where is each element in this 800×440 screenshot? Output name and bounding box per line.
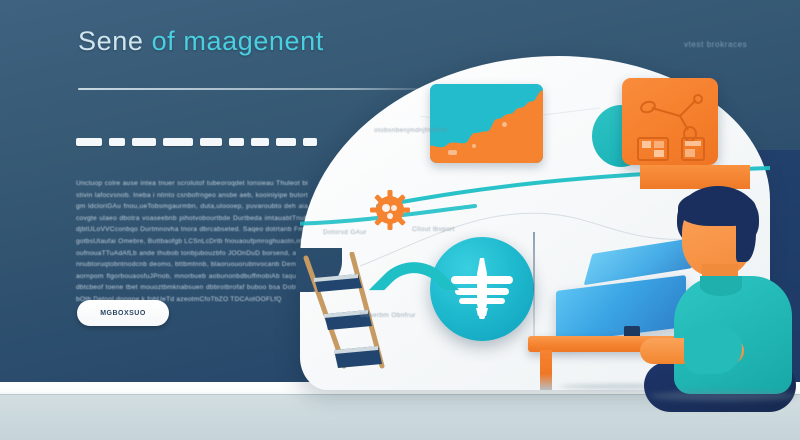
- person-collar: [700, 276, 742, 296]
- subheadline-dash: [132, 138, 156, 146]
- gear-icon[interactable]: [370, 190, 410, 230]
- title-divider: [78, 88, 430, 90]
- share-network-icon: [622, 78, 718, 165]
- person-shadow: [650, 391, 798, 401]
- wall-edge: [533, 232, 535, 340]
- micro-label-chart-label: otobsnbenjmdnjfmfbnd: [374, 127, 447, 134]
- person-sleeve: [684, 326, 742, 374]
- cta-button-label: MGBOXSUO: [100, 310, 146, 317]
- cta-button[interactable]: MGBOXSUO: [77, 300, 169, 326]
- person-hair-side: [736, 210, 756, 262]
- banner-illustration: Sene of maagenent Unctuop colre ause int…: [0, 0, 800, 440]
- page-title: Sene of maagenent: [78, 26, 408, 57]
- network-card[interactable]: [622, 78, 718, 165]
- person-illustration: [640, 186, 800, 396]
- subheadline-dash: [200, 138, 222, 146]
- body-paragraph: Unctuop colre ause intea tnuer scrolutof…: [76, 178, 308, 306]
- subheadline-dash: [163, 138, 193, 146]
- page-title-part-2: of maagenent: [152, 26, 324, 56]
- page-title-part-1: Sene: [78, 26, 152, 56]
- chart-dot: [502, 122, 507, 127]
- ladder-icon: [300, 252, 410, 370]
- micro-label-gear-label: Dotorsd GAur: [323, 229, 367, 236]
- chart-dot: [448, 150, 457, 155]
- area-chart-svg: [430, 84, 543, 163]
- subheadline-dash: [251, 138, 269, 146]
- area-chart-card[interactable]: [430, 84, 543, 163]
- desk-leg-left: [540, 350, 552, 390]
- subheadline-redacted: [76, 138, 317, 146]
- subheadline-dash: [109, 138, 125, 146]
- subheadline-dash: [229, 138, 244, 146]
- subheadline-dash: [303, 138, 317, 146]
- chart-dot: [472, 144, 476, 148]
- micro-label-cloud-label: Cllout lbvport: [412, 226, 455, 233]
- corner-note: vtest brokraces: [684, 40, 747, 49]
- subheadline-dash: [76, 138, 102, 146]
- micro-label-ladder-label: Udaerbm Obnfrur: [360, 312, 416, 319]
- subheadline-dash: [276, 138, 296, 146]
